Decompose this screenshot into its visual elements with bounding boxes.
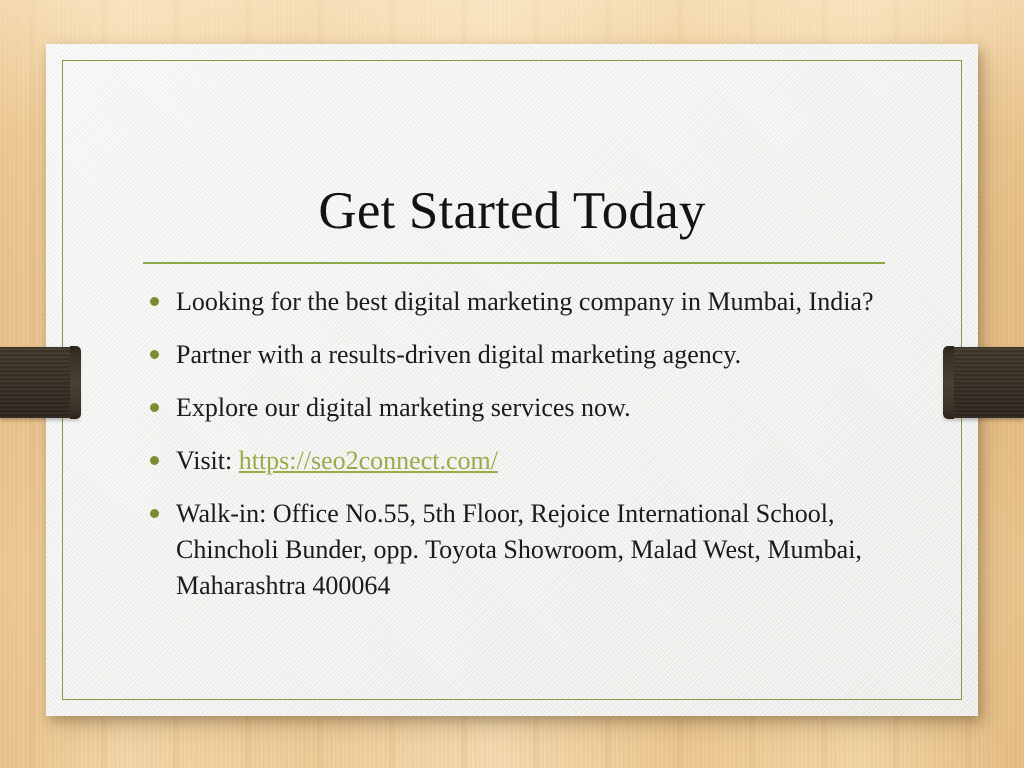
ribbon-cap-icon [70,346,81,419]
list-item-text: Looking for the best digital marketing c… [176,287,874,316]
list-item-visit: Visit: https://seo2connect.com/ [143,443,913,479]
bullet-dot-icon [150,509,159,518]
list-item-label: Visit: [176,446,239,475]
website-link[interactable]: https://seo2connect.com/ [239,446,498,475]
page-title: Get Started Today [46,183,978,240]
list-item-text: Explore our digital marketing services n… [176,393,631,422]
title-divider [143,262,885,264]
list-item-text: Partner with a results-driven digital ma… [176,340,741,369]
bullet-dot-icon [150,403,159,412]
slide-card: Get Started Today Looking for the best d… [46,44,978,716]
list-item-text: Walk-in: Office No.55, 5th Floor, Rejoic… [176,499,862,600]
slide-stage: Get Started Today Looking for the best d… [0,0,1024,768]
list-item: Explore our digital marketing services n… [143,390,913,426]
list-item: Partner with a results-driven digital ma… [143,337,913,373]
bullet-dot-icon [150,350,159,359]
bullet-dot-icon [150,297,159,306]
list-item: Looking for the best digital marketing c… [143,284,913,320]
ribbon-cap-icon [943,346,954,419]
bullet-dot-icon [150,456,159,465]
ribbon-left-decoration [0,347,79,418]
list-item-address: Walk-in: Office No.55, 5th Floor, Rejoic… [143,496,913,604]
bullet-list: Looking for the best digital marketing c… [143,284,913,604]
ribbon-right-decoration [945,347,1024,418]
